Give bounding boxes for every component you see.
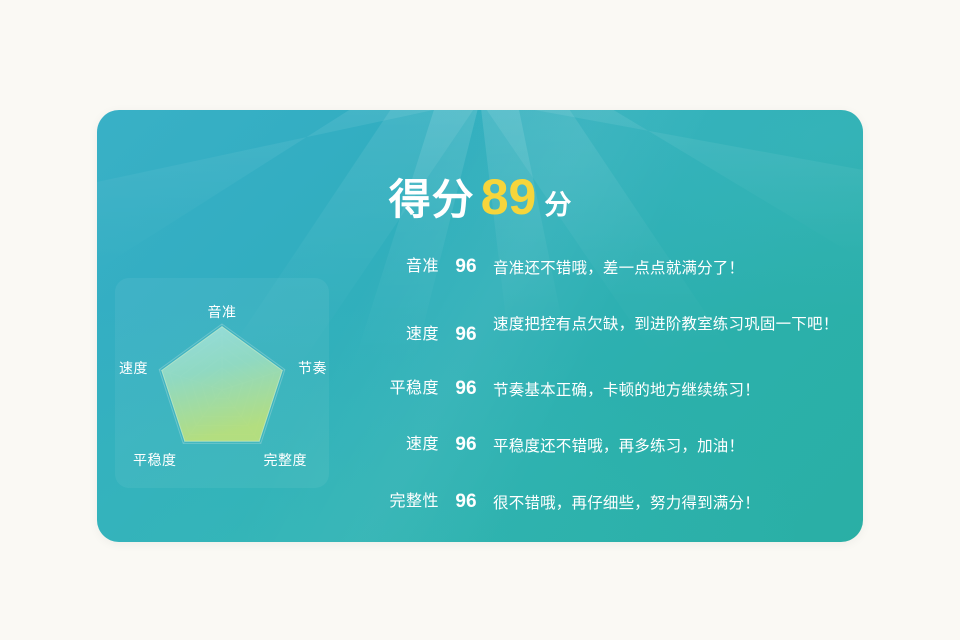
metric-score: 96 [439, 491, 493, 513]
metric-label: 速度 [357, 324, 439, 346]
metric-description: 速度把控有点欠缺，到进阶教室练习巩固一下吧！ [493, 312, 847, 337]
metric-description: 节奏基本正确，卡顿的地方继续练习！ [493, 378, 847, 403]
metric-label: 平稳度 [357, 378, 439, 400]
metric-description: 平稳度还不错哦，再多练习，加油！ [493, 434, 847, 459]
metric-score: 96 [439, 378, 493, 400]
metric-row: 完整性 96 很不错哦，再仔细些，努力得到满分！ [357, 491, 847, 516]
score-heading-prefix: 得分 [389, 176, 475, 223]
metric-row: 速度 96 速度把控有点欠缺，到进阶教室练习巩固一下吧！ [357, 312, 847, 346]
metric-score: 96 [439, 256, 493, 278]
radar-data-area [162, 327, 283, 442]
metric-label: 完整性 [357, 491, 439, 513]
score-heading: 得分89分 [97, 166, 863, 227]
page-root: 得分89分 音准 节奏 速度 平稳度 完整度 [0, 0, 960, 640]
metric-label: 音准 [357, 256, 439, 278]
radar-axis-label-left: 速度 [119, 358, 148, 378]
score-value: 89 [481, 169, 537, 225]
metric-description: 音准还不错哦，差一点点就满分了！ [493, 256, 847, 281]
metric-description: 很不错哦，再仔细些，努力得到满分！ [493, 491, 847, 516]
radar-axis-label-bottom-right: 完整度 [264, 450, 308, 470]
radar-axis-label-bottom-left: 平稳度 [133, 450, 177, 470]
metric-row: 音准 96 音准还不错哦，差一点点就满分了！ [357, 256, 847, 281]
radar-chart-panel: 音准 节奏 速度 平稳度 完整度 [115, 278, 329, 488]
radar-axis-label-top: 音准 [115, 302, 329, 322]
score-unit: 分 [544, 190, 571, 220]
metric-label: 速度 [357, 434, 439, 456]
metric-score: 96 [439, 434, 493, 456]
radar-axis-label-right: 节奏 [298, 358, 327, 378]
metric-score: 96 [439, 324, 493, 346]
metric-row: 平稳度 96 节奏基本正确，卡顿的地方继续练习！ [357, 378, 847, 403]
metric-row: 速度 96 平稳度还不错哦，再多练习，加油！ [357, 434, 847, 459]
score-result-card: 得分89分 音准 节奏 速度 平稳度 完整度 [97, 110, 863, 542]
